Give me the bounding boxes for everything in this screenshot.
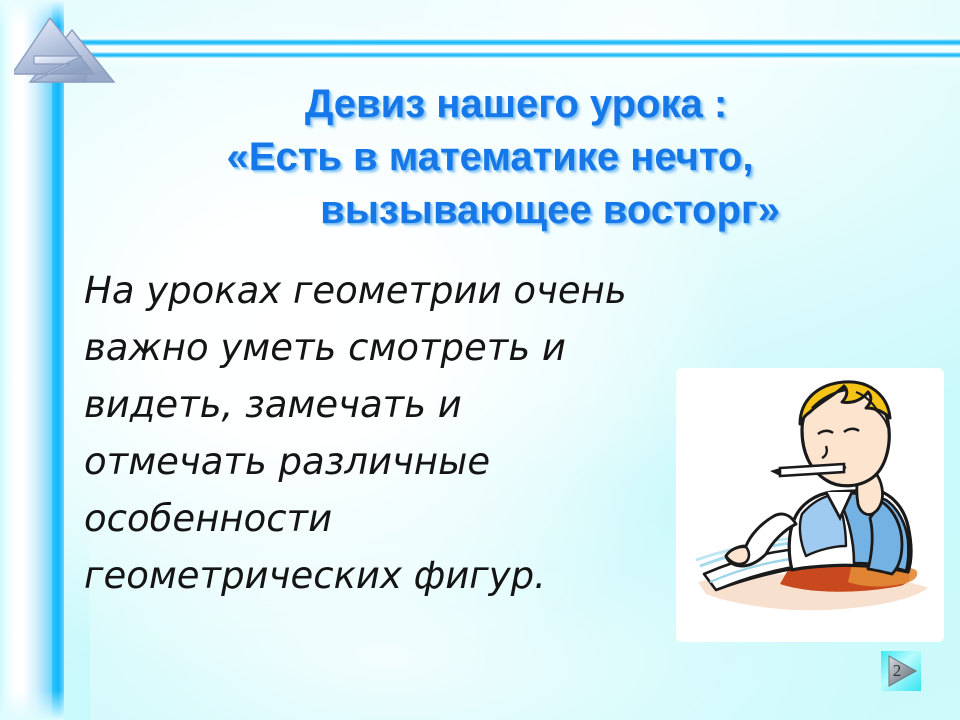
page-number-label[interactable]: 2 [880,650,922,692]
body-line-3: видеть, замечать и [84,376,724,433]
title-line-1: Девиз нашего урока : [90,78,890,131]
header-rule-bottom [58,52,960,58]
body-line-6: геометрических фигур. [84,547,724,604]
title-line-3: вызывающее восторг» [90,184,890,237]
slide: Девиз нашего урока : «Есть в математике … [0,0,960,720]
slide-title: Девиз нашего урока : «Есть в математике … [90,78,890,237]
title-line-2: «Есть в математике нечто, [90,131,890,184]
left-accent-bar-edge [52,0,64,720]
body-line-4: отмечать различные [84,433,724,490]
body-line-5: особенности [84,490,724,547]
header-rule-top [78,39,960,46]
left-accent-bar-fade-bottom [0,690,64,720]
body-line-1: На уроках геометрии очень [84,262,724,319]
slide-body-text: На уроках геометрии очень важно уметь см… [84,262,724,604]
boy-thinking-at-desk-icon [676,368,944,642]
body-line-2: важно уметь смотреть и [84,319,724,376]
